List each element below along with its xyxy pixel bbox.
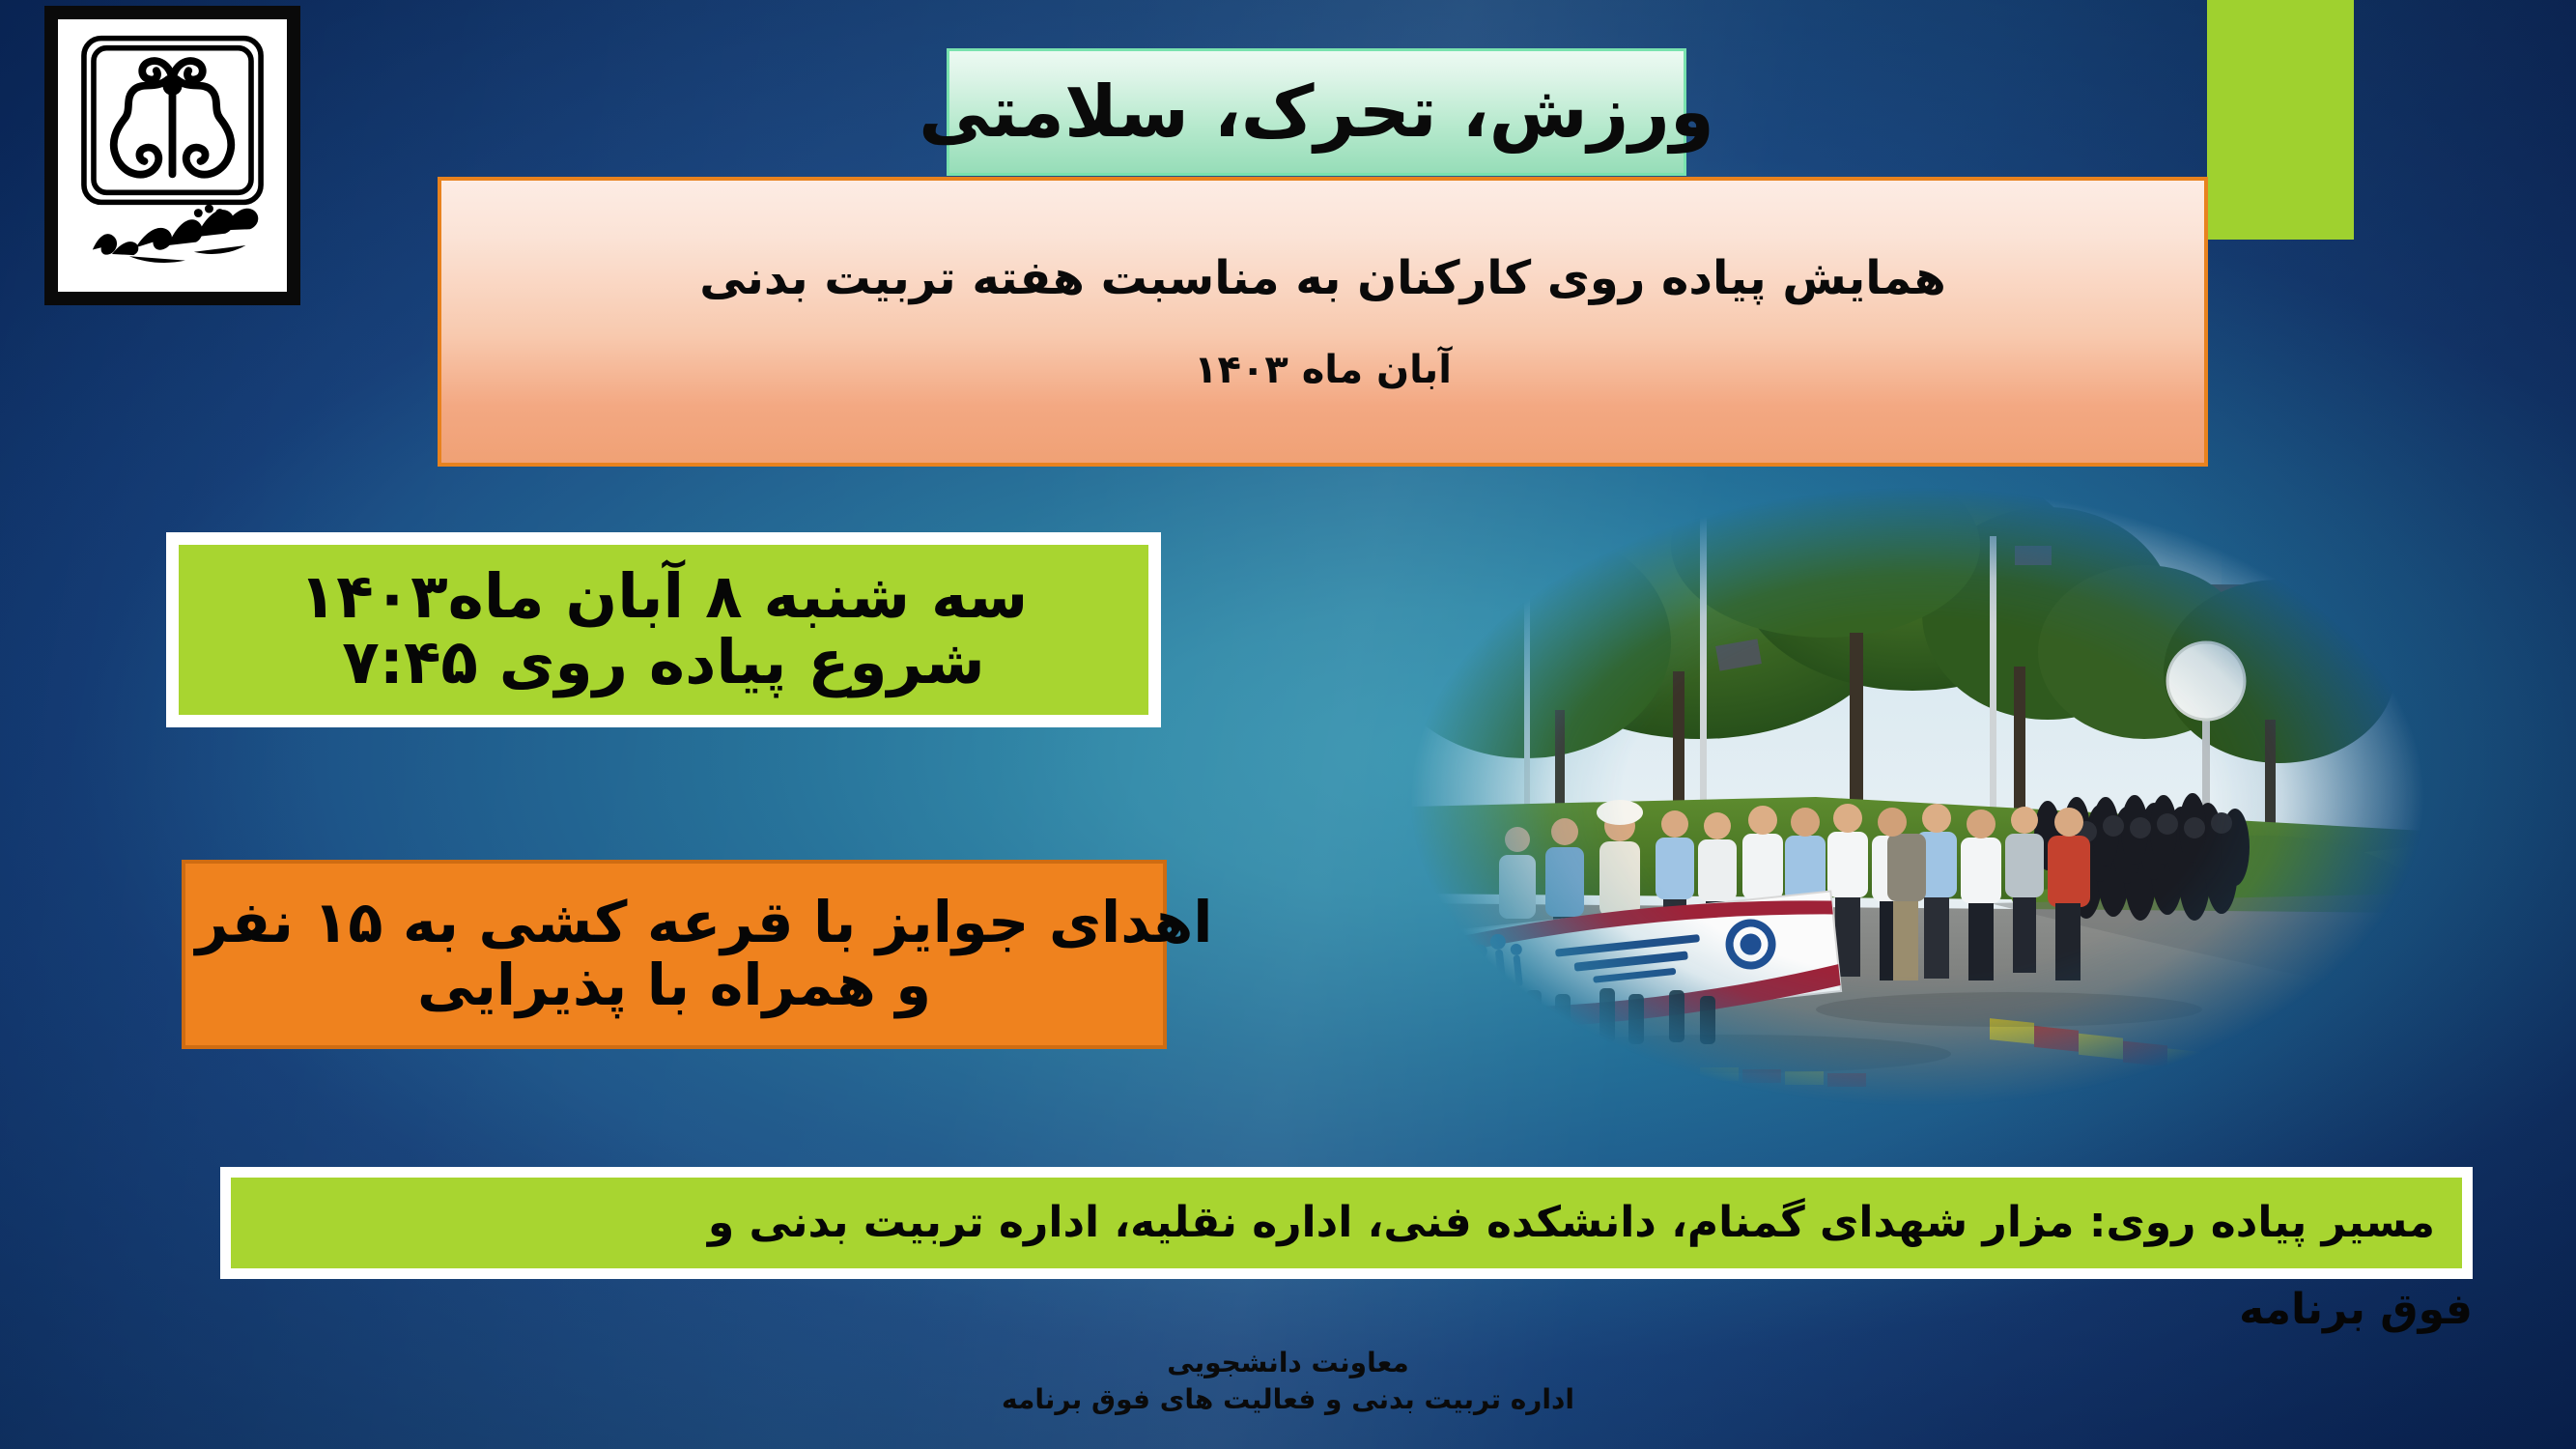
logo-plate <box>58 19 287 292</box>
guilan-butterfly-emblem-icon <box>64 23 281 282</box>
event-start-time: شروع پیاده روی ۷:۴۵ <box>342 630 984 696</box>
poster-footer: معاونت دانشجویی اداره تربیت بدنی و فعالی… <box>0 1345 2576 1418</box>
poster-title-box: ورزش، تحرک، سلامتی <box>947 48 1686 176</box>
prizes-raffle-text: اهدای جوایز با قرعه کشی به ۱۵ نفر <box>196 892 1213 954</box>
accent-green-block <box>2207 0 2354 240</box>
poster-canvas: ورزش، تحرک، سلامتی همایش پیاده روی کارکن… <box>0 0 2576 1449</box>
route-description-overflow: فوق برنامه <box>2193 1285 2473 1334</box>
subtitle-event-name: همایش پیاده روی کارکنان به مناسبت هفته ت… <box>699 251 1945 305</box>
subtitle-month-year: آبان ماه ۱۴۰۳ <box>1194 348 1452 392</box>
prizes-refreshments-text: و همراه با پذیرایی <box>417 954 931 1017</box>
route-box: مسیر پیاده روی: مزار شهدای گمنام، دانشکد… <box>220 1167 2473 1279</box>
event-date: سه شنبه ۸ آبان ماه۱۴۰۳ <box>299 564 1028 630</box>
poster-title: ورزش، تحرک، سلامتی <box>919 76 1714 148</box>
walking-rally-photograph <box>1410 488 2424 1106</box>
university-logo <box>44 6 300 305</box>
route-description: مسیر پیاده روی: مزار شهدای گمنام، دانشکد… <box>708 1200 2435 1246</box>
poster-subtitle-box: همایش پیاده روی کارکنان به مناسبت هفته ت… <box>438 177 2208 467</box>
event-date-box: سه شنبه ۸ آبان ماه۱۴۰۳ شروع پیاده روی ۷:… <box>166 532 1161 727</box>
rally-photo-illustration <box>1410 488 2424 1106</box>
logo-caption-calligraphy <box>93 205 258 263</box>
footer-office: اداره تربیت بدنی و فعالیت های فوق برنامه <box>0 1381 2576 1418</box>
prizes-box: اهدای جوایز با قرعه کشی به ۱۵ نفر و همرا… <box>182 860 1167 1049</box>
footer-department: معاونت دانشجویی <box>0 1345 2576 1381</box>
